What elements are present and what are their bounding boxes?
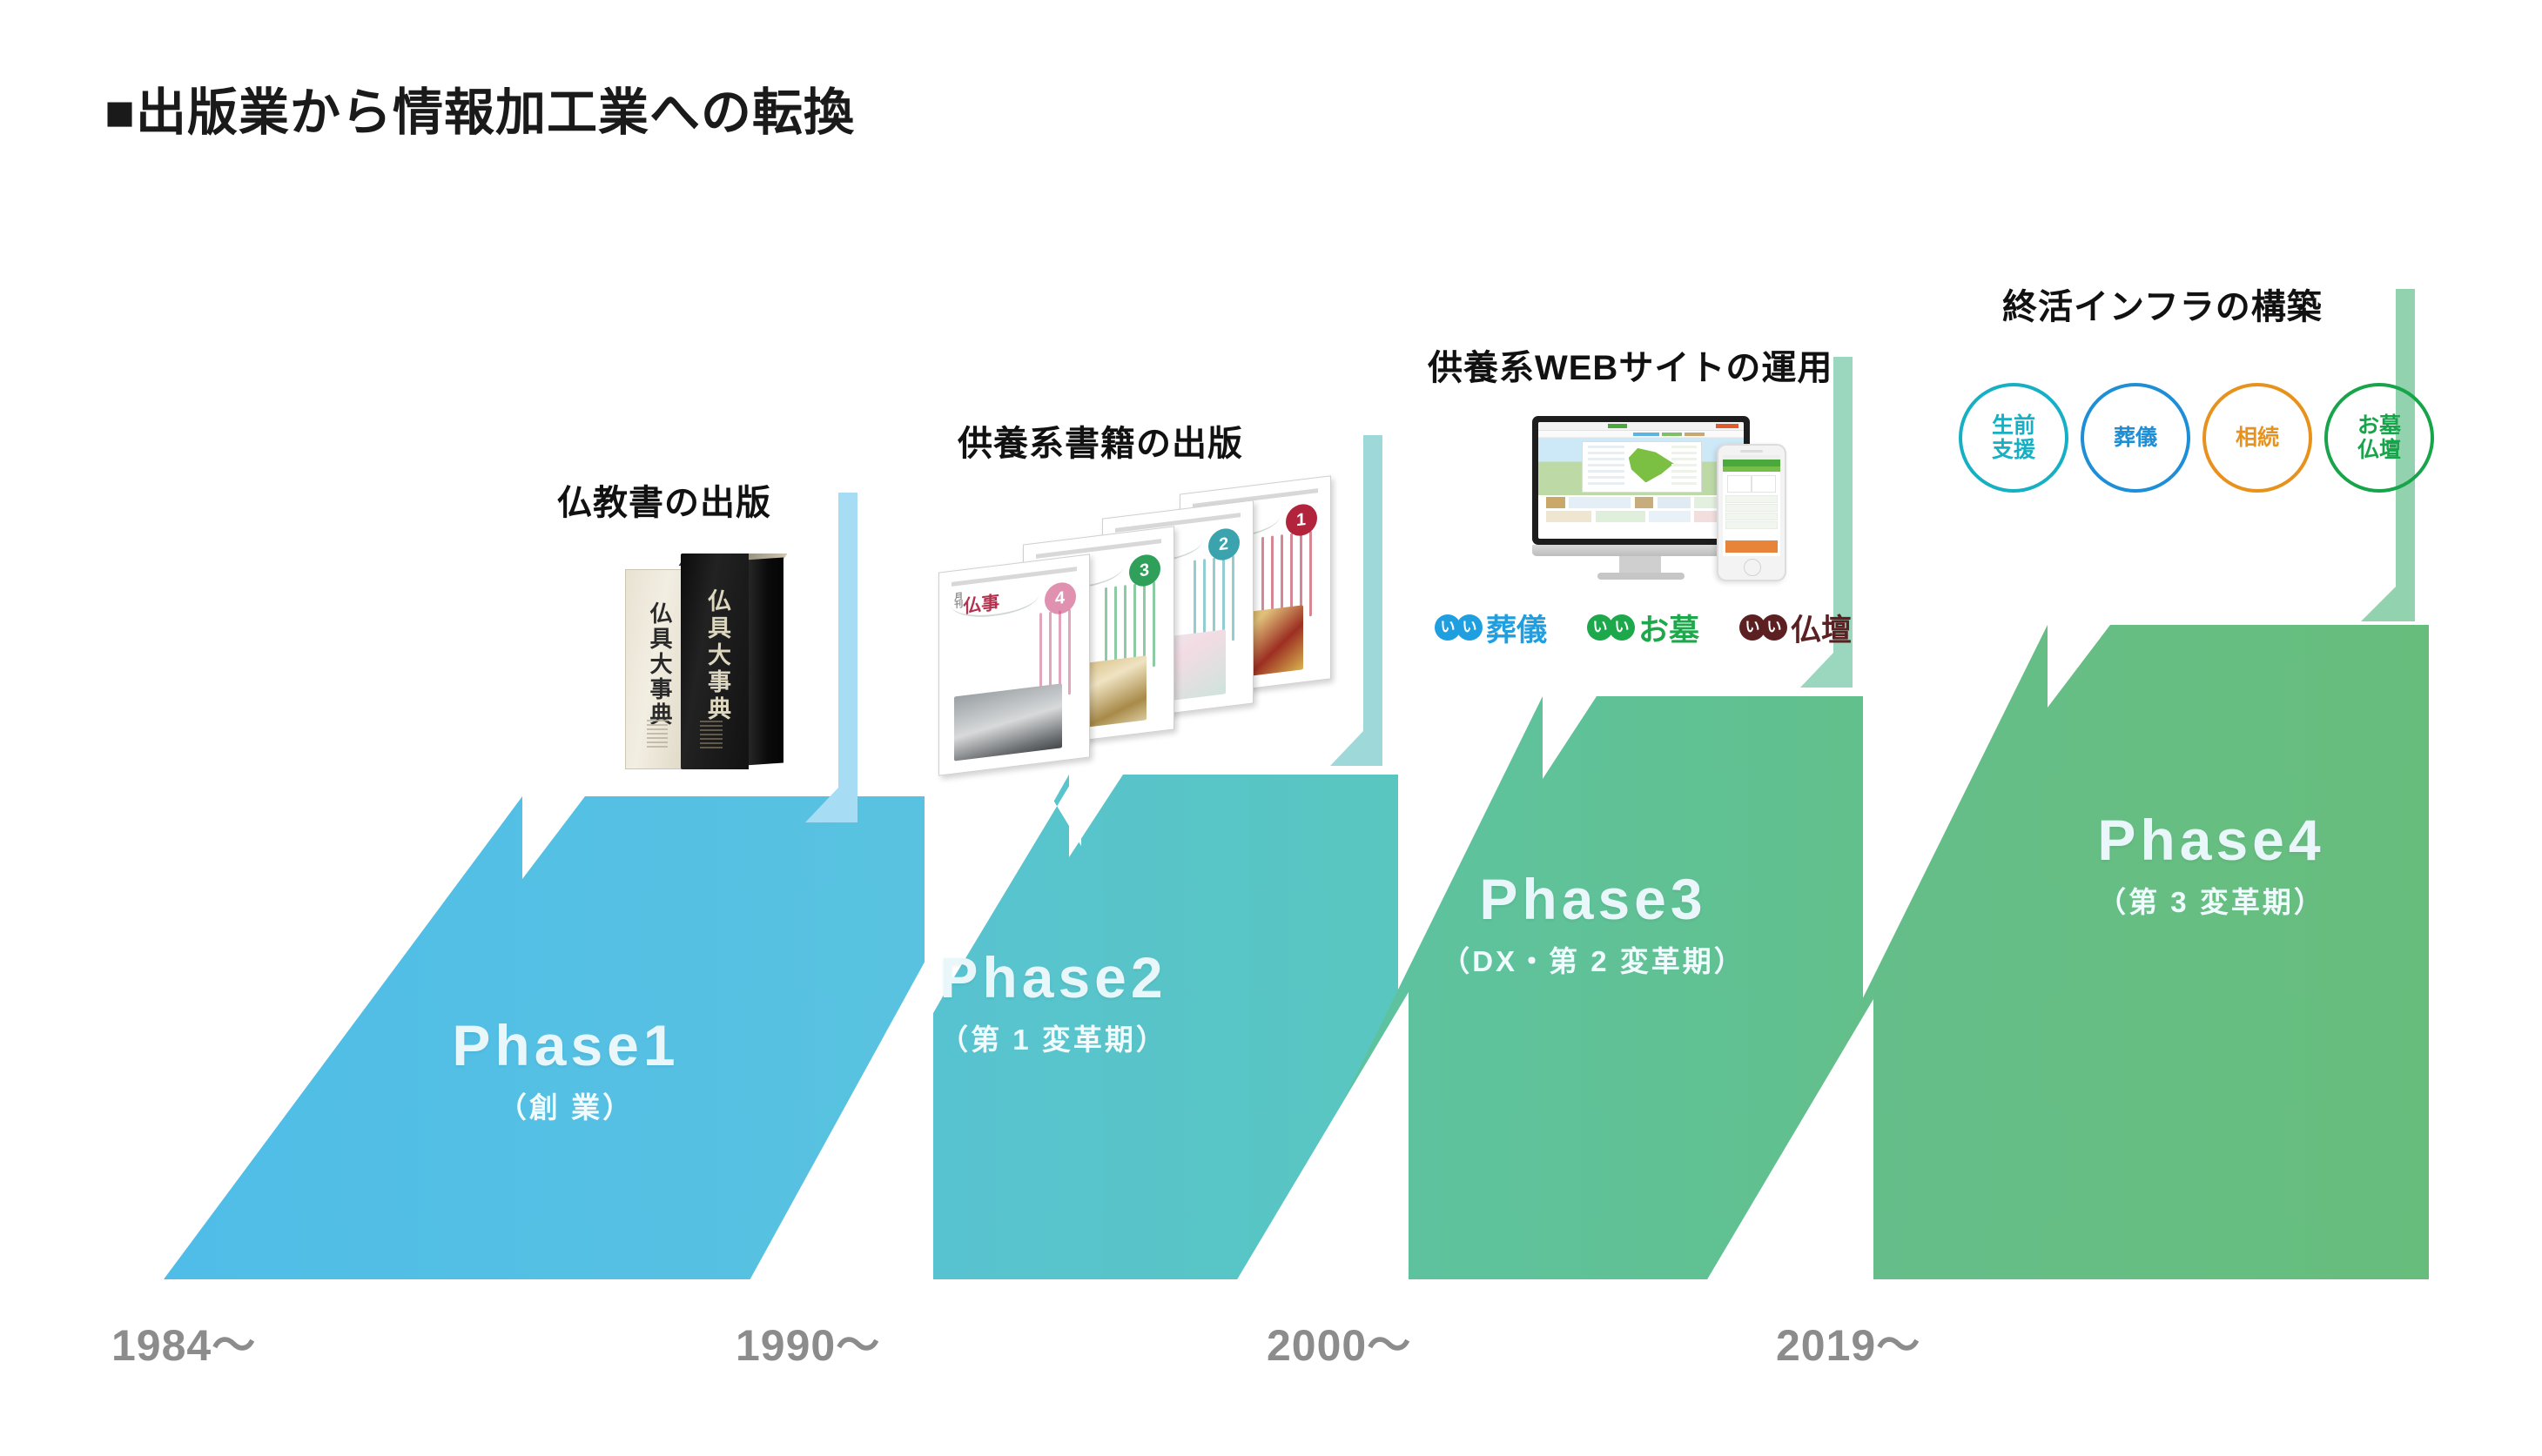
- magazine-photo-4: [954, 683, 1062, 761]
- brand-logo-row: いい 葬儀 いい お墓 いい 仏壇: [1435, 602, 1922, 653]
- phone-site-header: [1723, 460, 1780, 466]
- venn-label-seizen-shien: 生前支援: [1992, 413, 2035, 462]
- site-hero-list-right: [1671, 446, 1696, 486]
- venn-label-sougi: 葬儀: [2114, 426, 2157, 450]
- book-slipcase-footer: [647, 720, 668, 749]
- site-logo-icon: [1608, 424, 1627, 428]
- slide-canvas: ■出版業から情報加工業への転換: [0, 0, 2542, 1456]
- phone-list-row: [1725, 495, 1778, 503]
- phone-home-button: [1744, 559, 1761, 576]
- phone-site-subnav: [1723, 466, 1780, 472]
- phone-screen: [1723, 455, 1780, 556]
- book-spine-title: 仏具大事典: [695, 588, 735, 723]
- year-label-2019: 2019〜: [1776, 1311, 1920, 1373]
- venn-circle-souzoku: 相続: [2202, 383, 2312, 493]
- phone-list-row: [1725, 504, 1778, 512]
- site-content-tiles: [1538, 495, 1744, 532]
- site-cta-button: [1716, 424, 1738, 428]
- year-label-1990: 1990〜: [736, 1311, 880, 1373]
- website-device-mockup: [1515, 400, 1863, 587]
- venn-label-souzoku: 相続: [2236, 426, 2279, 450]
- connector-phase-1: [805, 493, 857, 822]
- magazine-issue-4: 月刊仏事 4: [938, 554, 1090, 775]
- venn-circle-seizen-shien: 生前支援: [1959, 383, 2068, 493]
- brand-logo-iiohaka: いい お墓: [1587, 606, 1699, 650]
- book-side: [745, 557, 783, 765]
- brand-name-butsudan: 仏壇: [1791, 606, 1852, 650]
- phone-list-row: [1725, 513, 1778, 520]
- phone-tile-right-icon: [1752, 475, 1776, 493]
- caption-phase-1: 仏教書の出版: [557, 474, 771, 525]
- site-nav-bar: [1538, 431, 1744, 438]
- venn-label-ohaka-butsudan: お墓仏壇: [2357, 413, 2401, 462]
- caption-phase-2: 供養系書籍の出版: [958, 415, 1243, 466]
- book-image-bukkyo: 仏具大事典 仏具大事典: [625, 554, 786, 769]
- magazine-title-4: 月刊仏事: [954, 588, 999, 620]
- brand-name-ohaka: お墓: [1638, 606, 1699, 650]
- ii-mark-icon: いい: [1739, 614, 1787, 641]
- monitor-foot: [1597, 573, 1685, 580]
- book-slipcase: 仏具大事典: [625, 569, 689, 769]
- ii-mark-icon: いい: [1435, 614, 1483, 641]
- site-header-bar: [1538, 422, 1744, 431]
- brand-logo-iisougi: いい 葬儀: [1435, 606, 1547, 650]
- phone-list-row: [1725, 521, 1778, 529]
- monitor-screen: [1538, 422, 1744, 539]
- year-label-2000: 2000〜: [1267, 1311, 1411, 1373]
- phone-tile-left-icon: [1727, 475, 1752, 493]
- site-hero-list-left: [1588, 446, 1624, 486]
- book-spine-footer: [700, 721, 723, 748]
- venn-circle-ohaka-butsudan: お墓仏壇: [2324, 383, 2434, 493]
- magazine-stack-butsuji: 月刊仏事 1 月刊仏事 2 月刊仏事 3: [931, 483, 1393, 770]
- site-hero-area: [1538, 438, 1744, 495]
- shukatsu-infra-venn: 生前支援 葬儀 相続 お墓仏壇: [1959, 383, 2481, 531]
- monitor-neck: [1619, 556, 1661, 574]
- caption-phase-3: 供養系WEBサイトの運用: [1428, 339, 1833, 390]
- phone-speaker: [1740, 450, 1763, 453]
- smartphone-mockup: [1717, 444, 1786, 581]
- venn-circle-sougi: 葬儀: [2081, 383, 2190, 493]
- caption-phase-4: 終活インフラの構築: [2002, 278, 2323, 329]
- ii-mark-icon: いい: [1587, 614, 1635, 641]
- year-label-1984: 1984〜: [111, 1311, 256, 1373]
- book-slipcase-title: 仏具大事典: [638, 601, 676, 728]
- phone-cta-banner: [1725, 540, 1778, 553]
- brand-name-sougi: 葬儀: [1486, 606, 1547, 650]
- brand-logo-iibutsudan: いい 仏壇: [1739, 606, 1852, 650]
- book-cover: 仏具大事典: [681, 554, 749, 769]
